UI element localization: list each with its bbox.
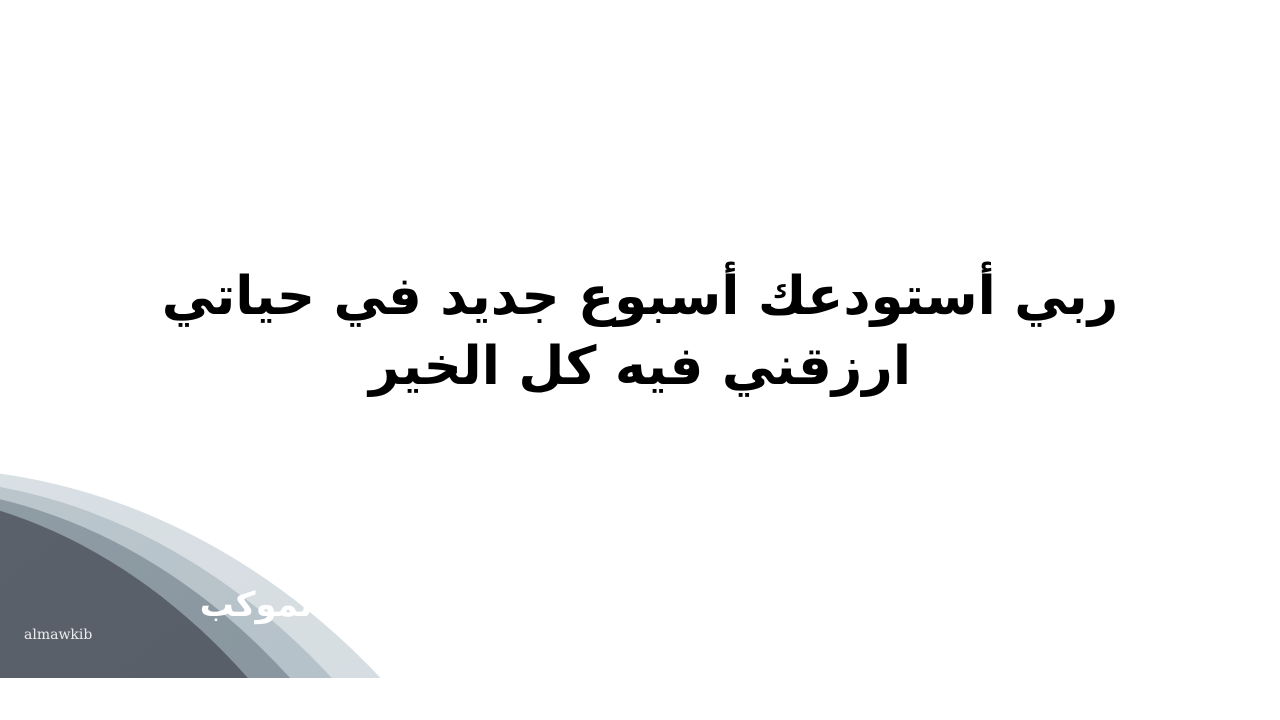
logo-lockup: الموكب almawkib bbox=[24, 586, 324, 644]
quote-block: ربي أستودعك أسبوع جديد في حياتي ارزقني ف… bbox=[0, 262, 1280, 402]
swoosh-shape-dark bbox=[0, 490, 466, 678]
logo-latin-name: almawkib bbox=[24, 626, 324, 644]
logo-arabic-name: الموكب bbox=[138, 586, 324, 624]
quote-line-1: ربي أستودعك أسبوع جديد في حياتي bbox=[0, 262, 1280, 332]
swoosh-band-steel bbox=[0, 486, 516, 678]
quote-line-2: ارزقني فيه كل الخير bbox=[0, 332, 1280, 402]
slide-root: ربي أستودعك أسبوع جديد في حياتي ارزقني ف… bbox=[0, 0, 1280, 720]
slide-canvas: ربي أستودعك أسبوع جديد في حياتي ارزقني ف… bbox=[0, 0, 1280, 678]
swoosh-band-mid bbox=[0, 478, 564, 678]
swoosh-band-light bbox=[0, 468, 620, 678]
